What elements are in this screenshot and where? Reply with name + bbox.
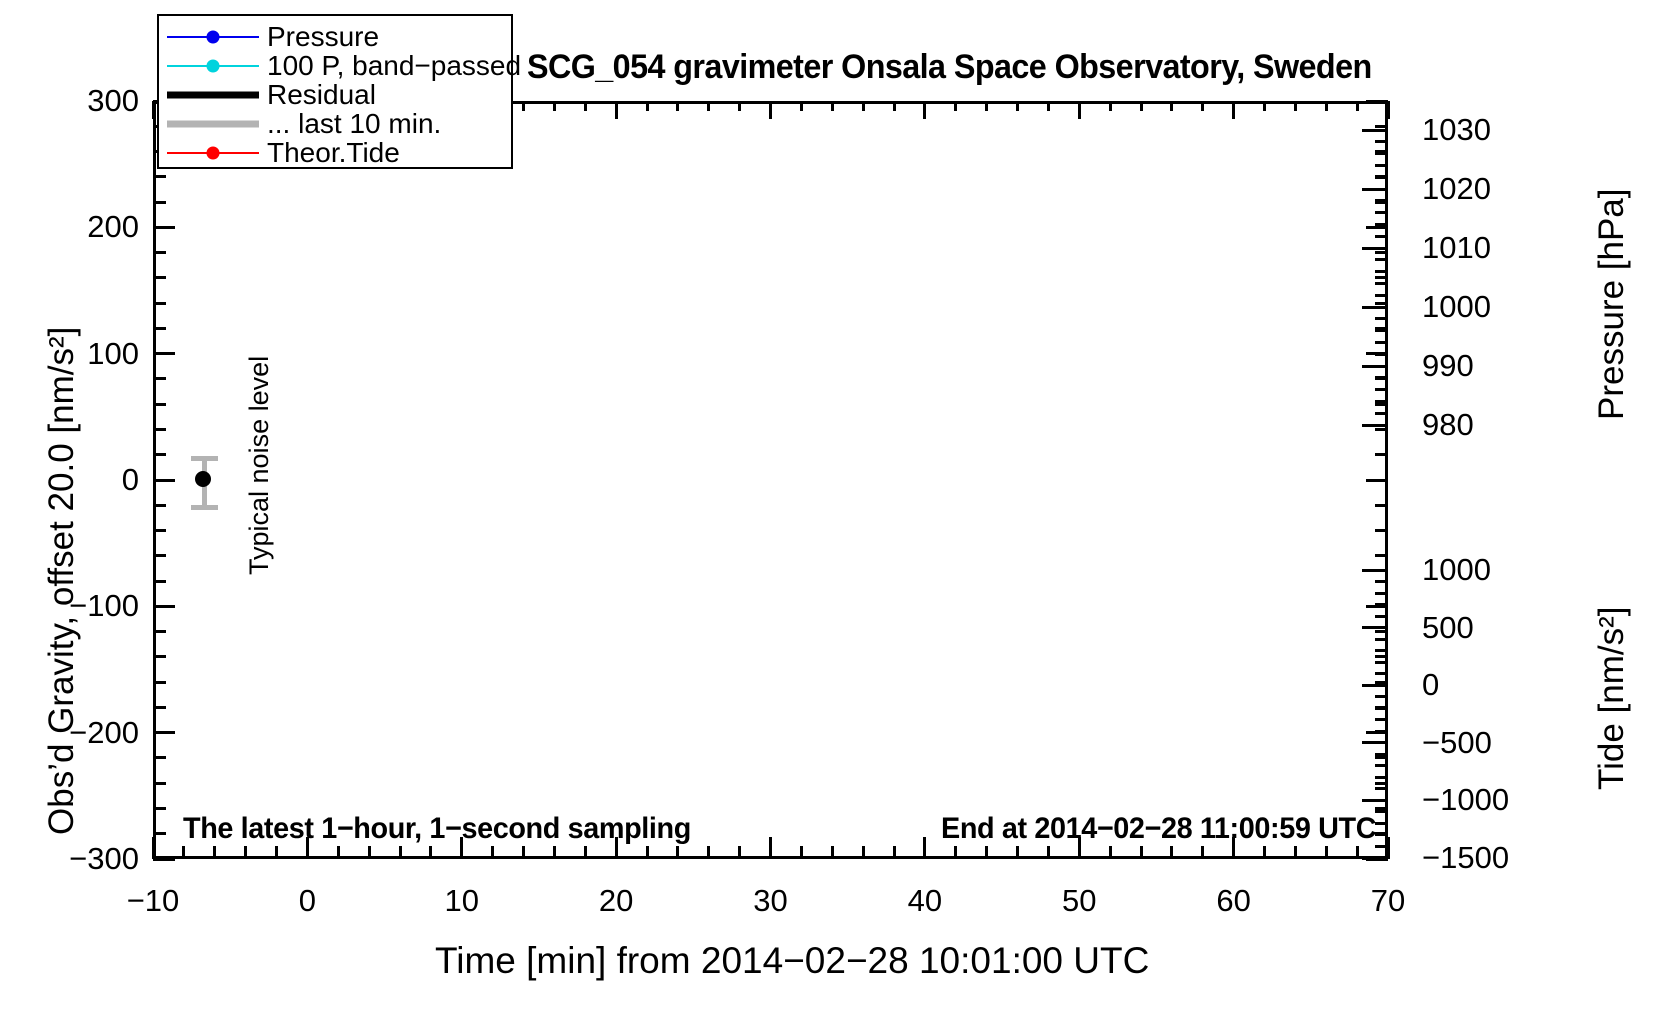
axis-tick-label: 60 [1184,885,1284,916]
axis-tick-label: 20 [566,885,666,916]
tick-mark [1375,428,1388,431]
tick-mark [153,479,175,482]
tick-mark [893,846,896,859]
tick-mark [1375,833,1388,836]
tick-mark [1375,718,1388,721]
tick-mark [553,846,556,859]
tick-mark [153,706,166,709]
tick-mark [153,731,175,734]
tick-mark [1387,101,1390,119]
tick-mark [831,846,834,859]
tick-mark [954,846,957,859]
axis-tick-label: 990 [1422,350,1572,381]
tick-mark [153,428,166,431]
tick-mark [1375,353,1388,356]
axis-tick-label: 1000 [1422,554,1572,585]
tick-mark [1375,223,1388,226]
tick-mark [646,101,649,111]
tick-mark [1375,672,1388,675]
tick-mark [1375,317,1388,320]
tick-mark [153,226,175,229]
legend-label: Theor.Tide [267,139,400,167]
tick-mark [1362,569,1388,572]
tick-mark [1201,101,1204,111]
tick-mark [1375,695,1388,698]
tick-mark [1362,306,1388,309]
legend-marker-residual [159,80,267,109]
noise-bar-bottom-cap [191,505,218,510]
tick-mark [153,858,175,861]
tick-mark [862,101,865,111]
noise-level-label: Typical noise level [244,356,275,575]
axis-tick-label: 70 [1338,885,1438,916]
tick-mark [1366,479,1388,482]
tick-mark [1375,258,1388,261]
tick-mark [153,529,166,532]
tick-mark [985,846,988,859]
axis-tick-label: −500 [1422,727,1572,758]
tick-mark [1375,655,1388,658]
tick-mark [1263,846,1266,859]
tick-mark [1366,100,1388,103]
tick-mark [153,580,166,583]
note-end-time: End at 2014−02−28 11:00:59 UTC [941,812,1376,846]
axis-tick-label: 1020 [1422,173,1572,204]
tick-mark [1375,529,1388,532]
tick-mark [522,846,525,859]
legend-dot [207,59,220,72]
tick-mark [1375,554,1388,557]
tick-mark [1375,341,1388,344]
tick-mark [923,837,926,859]
legend-line [167,120,259,127]
tick-mark [182,846,185,859]
y-right-bottom-axis-title: Tide [nm/s²] [1592,607,1632,790]
tick-mark [1375,282,1388,285]
tick-mark [1078,101,1081,119]
tick-mark [1375,810,1388,813]
y-left-axis-title: Obs’d Gravity, offset 20.0 [nm/s²] [42,327,82,835]
tick-mark [553,101,556,111]
note-sampling: The latest 1−hour, 1−second sampling [183,812,691,846]
tick-mark [522,101,525,111]
axis-tick-label: 50 [1029,885,1129,916]
legend-marker-pressure [159,22,267,51]
tick-mark [1170,846,1173,859]
tick-mark [1109,101,1112,111]
tick-mark [337,846,340,859]
tick-mark [1232,101,1235,119]
tick-mark [1375,453,1388,456]
tick-mark [153,251,166,254]
legend-item: Theor.Tide [159,138,511,167]
tick-mark [1375,302,1388,305]
tick-mark [275,846,278,859]
tick-mark [1140,101,1143,111]
tick-mark [1375,787,1388,790]
tick-mark [985,101,988,111]
tick-mark [1375,764,1388,767]
legend-marker-last10 [159,109,267,138]
tick-mark [676,101,679,111]
axis-tick-label: 30 [721,885,821,916]
tick-mark [1263,101,1266,111]
tick-mark [1375,176,1388,179]
tick-mark [1362,626,1388,629]
legend-label: Residual [267,81,376,109]
tick-mark [244,846,247,859]
chart-legend: Pressure100 P, band−passedResidual... la… [157,14,513,169]
tick-mark [738,846,741,859]
tick-mark [399,846,402,859]
tick-mark [769,837,772,859]
plot-frame [153,101,1388,859]
tick-mark [831,101,834,111]
page-title: SCG_054 gravimeter Onsala Space Observat… [527,48,1372,87]
tick-mark [1201,846,1204,859]
tick-mark [1294,846,1297,859]
tick-mark [893,101,896,111]
x-axis-title: Time [min] from 2014−02−28 10:01:00 UTC [435,940,1149,982]
axis-tick-label: 0 [1422,669,1572,700]
tick-mark [800,846,803,859]
tick-mark [1375,251,1388,254]
tick-mark [1362,188,1388,191]
tick-mark [1375,649,1388,652]
tick-mark [1362,365,1388,368]
legend-item: 100 P, band−passed [159,51,511,80]
tick-mark [153,832,166,835]
tick-mark [368,846,371,859]
axis-tick-label: −1500 [1422,842,1572,873]
tick-mark [152,837,155,859]
tick-mark [1375,125,1388,128]
tick-mark [153,504,166,507]
tick-mark [707,101,710,111]
tick-mark [800,101,803,111]
tick-mark [1375,329,1388,332]
tick-mark [153,352,175,355]
tick-mark [1362,129,1388,132]
tick-mark [1375,403,1388,406]
tick-mark [153,175,166,178]
tick-mark [153,302,166,305]
axis-tick-label: 10 [412,885,512,916]
tick-mark [1375,211,1388,214]
tick-mark [153,276,166,279]
tick-mark [1375,661,1388,664]
tick-mark [1362,857,1388,860]
tick-mark [954,101,957,111]
tick-mark [584,846,587,859]
tick-mark [153,554,166,557]
tick-mark [1375,376,1388,379]
tick-mark [1170,101,1173,111]
axis-tick-label: −10 [103,885,203,916]
tick-mark [1356,101,1359,111]
tick-mark [1047,846,1050,859]
tick-mark [1375,782,1388,785]
tick-mark [1109,846,1112,859]
tick-mark [1375,845,1388,848]
tick-mark [213,846,216,859]
noise-center-dot [195,471,211,487]
tick-mark [1140,846,1143,859]
legend-dot [207,30,220,43]
tick-mark [1375,164,1388,167]
tick-mark [615,101,618,119]
tick-mark [153,327,166,330]
tick-mark [1375,152,1388,155]
tick-mark [1362,741,1388,744]
axis-tick-label: 200 [11,211,139,242]
tick-mark [1375,638,1388,641]
tick-mark [1375,822,1388,825]
axis-tick-label: −1000 [1422,784,1572,815]
tick-mark [738,101,741,111]
tick-mark [1362,424,1388,427]
tick-mark [923,101,926,119]
axis-tick-label: 0 [257,885,357,916]
tick-mark [1375,630,1388,633]
tick-mark [1375,294,1388,297]
tick-mark [646,846,649,859]
tick-mark [1375,388,1388,391]
tick-mark [1362,684,1388,687]
tick-mark [153,655,166,658]
tick-mark [1366,226,1388,229]
tick-mark [1294,101,1297,111]
tick-mark [1362,247,1388,250]
tick-mark [153,630,166,633]
tick-mark [1375,412,1388,415]
tick-mark [1375,603,1388,606]
tick-mark [1375,504,1388,507]
legend-line [167,91,259,98]
tick-mark [153,605,175,608]
tick-mark [1375,730,1388,733]
tick-mark [1375,140,1388,143]
legend-label: 100 P, band−passed [267,52,521,80]
axis-tick-label: 1010 [1422,232,1572,263]
tick-mark [1375,199,1388,202]
tick-mark [1375,276,1388,279]
tick-mark [153,782,166,785]
tick-mark [1356,846,1359,859]
tick-mark [707,846,710,859]
tick-mark [491,846,494,859]
axis-tick-label: 40 [875,885,975,916]
tick-mark [1375,592,1388,595]
tick-mark [153,756,166,759]
legend-item: Pressure [159,22,511,51]
axis-tick-label: 500 [1422,612,1572,643]
tick-mark [862,846,865,859]
tick-mark [153,201,166,204]
legend-item: Residual [159,80,511,109]
tick-mark [1375,580,1388,583]
tick-mark [1375,235,1388,238]
tick-mark [1375,270,1388,273]
tick-mark [153,807,166,810]
tick-mark [1375,756,1388,759]
tick-mark [153,453,166,456]
legend-marker-theortide [159,138,267,167]
legend-label: ... last 10 min. [267,110,441,138]
tick-mark [1325,101,1328,111]
tick-mark [1325,846,1328,859]
axis-tick-label: −300 [11,843,139,874]
tick-mark [153,377,166,380]
legend-marker-bandpassed [159,51,267,80]
tick-mark [1362,799,1388,802]
legend-dot [207,146,220,159]
legend-label: Pressure [267,23,379,51]
axis-tick-label: 1030 [1422,114,1572,145]
tick-mark [153,403,166,406]
tick-mark [1375,776,1388,779]
axis-tick-label: 300 [11,85,139,116]
tick-mark [1375,400,1388,403]
tick-mark [769,101,772,119]
chart-root: −100102030405060703002001000−100−200−300… [0,0,1660,1020]
tick-mark [1016,101,1019,111]
tick-mark [1016,846,1019,859]
tick-mark [1375,615,1388,618]
y-right-top-axis-title: Pressure [hPa] [1592,189,1632,421]
tick-mark [584,101,587,111]
tick-mark [676,846,679,859]
tick-mark [152,101,155,119]
legend-item: ... last 10 min. [159,109,511,138]
tick-mark [1375,753,1388,756]
tick-mark [429,846,432,859]
axis-tick-label: 980 [1422,409,1572,440]
tick-mark [153,681,166,684]
tick-mark [1047,101,1050,111]
tick-mark [1375,707,1388,710]
axis-tick-label: 1000 [1422,291,1572,322]
